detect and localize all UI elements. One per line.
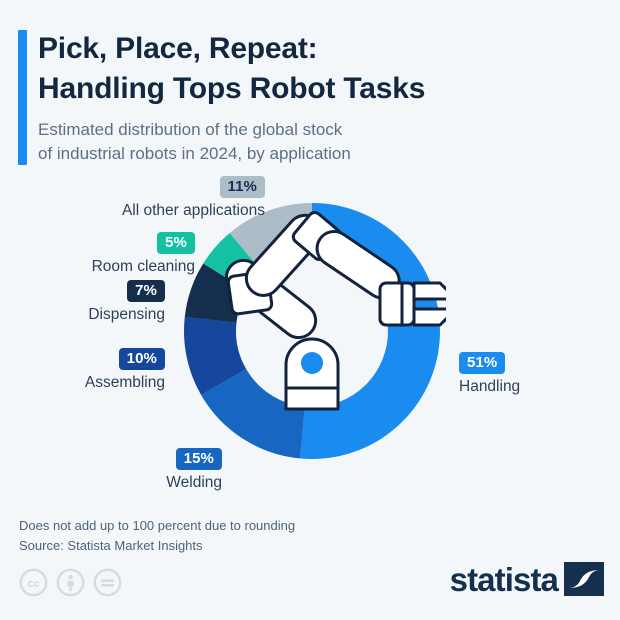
chart-area: 11% All other applications 5% Room clean… xyxy=(0,170,620,500)
infographic-card: Pick, Place, Repeat: Handling Tops Robot… xyxy=(0,0,620,620)
label-all-other-applications: All other applications xyxy=(0,202,265,220)
cc-by-attribution-icon[interactable] xyxy=(56,568,85,597)
page-title: Pick, Place, Repeat: Handling Tops Robot… xyxy=(38,29,598,108)
callout-assembling: 10% Assembling xyxy=(0,348,165,392)
badge-room-cleaning: 5% xyxy=(157,232,195,254)
badge-all-other-applications: 11% xyxy=(220,176,266,198)
title-line-1: Pick, Place, Repeat: xyxy=(38,32,317,65)
statista-logo: statista xyxy=(450,562,604,596)
badge-dispensing: 7% xyxy=(127,280,165,302)
callout-dispensing: 7% Dispensing xyxy=(0,280,165,324)
title-line-2: Handling Tops Robot Tasks xyxy=(38,69,598,109)
callout-handling: 51% Handling xyxy=(459,352,609,396)
footer: Does not add up to 100 percent due to ro… xyxy=(0,500,620,620)
badge-handling: 51% xyxy=(459,352,505,374)
header: Pick, Place, Repeat: Handling Tops Robot… xyxy=(0,0,620,180)
license-icons: cc xyxy=(19,568,122,597)
accent-bar xyxy=(18,30,27,165)
svg-text:cc: cc xyxy=(27,578,39,590)
statista-logo-mark xyxy=(564,562,604,596)
label-handling: Handling xyxy=(459,378,609,396)
label-welding: Welding xyxy=(0,474,222,492)
callout-welding: 15% Welding xyxy=(0,448,222,492)
label-assembling: Assembling xyxy=(0,374,165,392)
badge-assembling: 10% xyxy=(119,348,165,370)
badge-welding: 15% xyxy=(176,448,222,470)
footnote: Does not add up to 100 percent due to ro… xyxy=(19,516,295,556)
donut-svg xyxy=(178,185,446,475)
donut-chart xyxy=(178,185,446,475)
callout-room-cleaning: 5% Room cleaning xyxy=(0,232,195,276)
statista-wordmark: statista xyxy=(450,563,558,596)
label-room-cleaning: Room cleaning xyxy=(0,258,195,276)
footnote-rounding: Does not add up to 100 percent due to ro… xyxy=(19,518,295,533)
label-dispensing: Dispensing xyxy=(0,306,165,324)
footnote-source: Source: Statista Market Insights xyxy=(19,536,295,556)
subtitle-line-1: Estimated distribution of the global sto… xyxy=(38,120,342,139)
page-subtitle: Estimated distribution of the global sto… xyxy=(38,118,558,166)
subtitle-line-2: of industrial robots in 2024, by applica… xyxy=(38,142,558,166)
cc-icon[interactable]: cc xyxy=(19,568,48,597)
callout-all-other-applications: 11% All other applications xyxy=(0,176,265,220)
cc-nd-no-derivatives-icon[interactable] xyxy=(93,568,122,597)
